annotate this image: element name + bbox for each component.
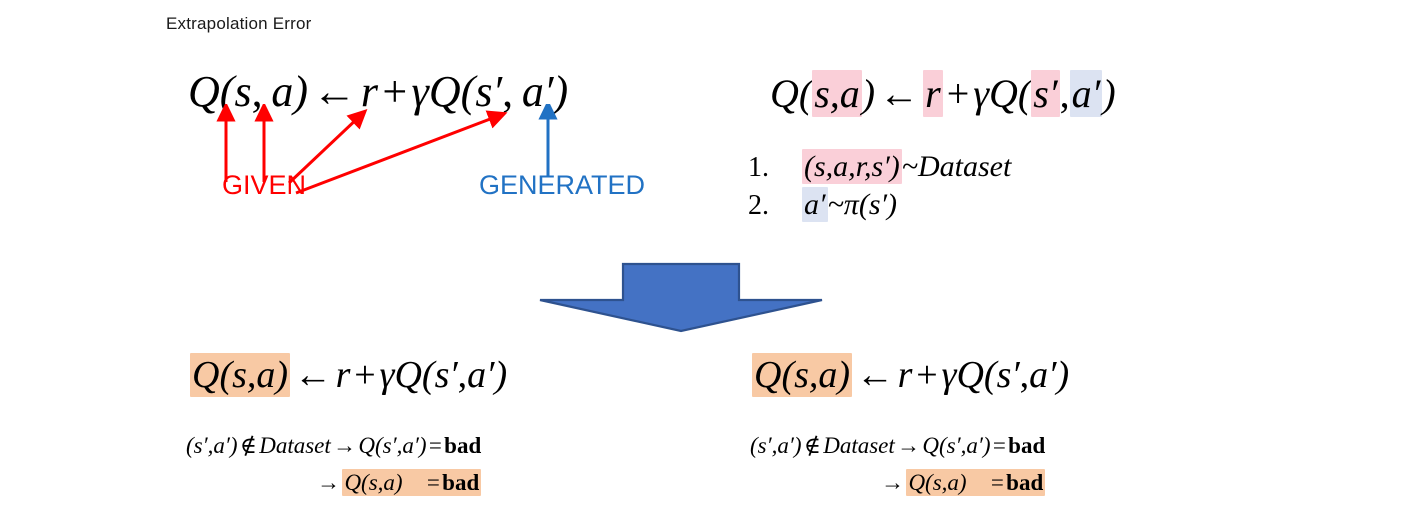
- dataset-word: Dataset: [259, 433, 331, 458]
- implies-arrow: →: [895, 433, 923, 458]
- reward-highlight: r: [923, 70, 943, 117]
- q-open: Q(: [770, 71, 812, 116]
- state-action-highlight: s,a: [812, 70, 862, 117]
- page-title: Extrapolation Error: [166, 14, 312, 34]
- q2-close: ): [1102, 71, 1115, 116]
- reward-symbol: r: [336, 354, 351, 396]
- q-sa-term: Q(s,a): [908, 470, 966, 495]
- policy-action-highlight: a′: [802, 187, 828, 222]
- plus-operator: +: [350, 354, 379, 396]
- arrow-to-next-state: [296, 116, 498, 193]
- equals-sign: =: [425, 470, 443, 495]
- equals-sign: =: [989, 470, 1007, 495]
- q2-open: Q(: [394, 354, 434, 396]
- bad-value: bad: [1006, 470, 1043, 495]
- list-item: 2. a′~π(s′): [748, 190, 1168, 228]
- q-next-term: Q(s′,a′): [922, 433, 990, 458]
- down-block-arrow: [536, 262, 826, 334]
- q-next-term: Q(s′,a′): [358, 433, 426, 458]
- gamma-symbol: γ: [941, 354, 956, 396]
- bottom-left-explanation: (s′,a′)∉Dataset→Q(s′,a′)=bad →Q(s,a)=bad: [186, 434, 481, 494]
- q2-open: Q(: [989, 71, 1031, 116]
- list-item: 1. (s,a,r,s′)~Dataset: [748, 152, 1168, 190]
- q-sa-bad-highlight: Q(s,a)=bad: [342, 469, 481, 496]
- assign-arrow: ←: [290, 354, 336, 396]
- not-in-operator: ∉: [802, 433, 824, 458]
- label-given: GIVEN: [222, 170, 306, 201]
- next-action-symbol: a′: [1029, 354, 1056, 396]
- not-in-operator: ∉: [238, 433, 260, 458]
- q2-close: ): [494, 354, 507, 396]
- label-generated: GENERATED: [479, 170, 645, 201]
- next-action-highlight: a′: [1070, 70, 1103, 117]
- implies-arrow: →: [331, 433, 359, 458]
- gamma-symbol: γ: [379, 354, 394, 396]
- q-sa-term: Q(s,a): [344, 470, 402, 495]
- next-action-symbol: a′: [467, 354, 494, 396]
- implies-arrow: →: [315, 470, 343, 495]
- comma: ,: [1060, 71, 1070, 116]
- q2-close: ): [1056, 354, 1069, 396]
- bad-value: bad: [1008, 433, 1045, 458]
- implies-arrow: →: [879, 470, 907, 495]
- assign-arrow: ←: [875, 71, 923, 116]
- reward-symbol: r: [898, 354, 913, 396]
- list-body: a′~π(s′): [802, 190, 897, 220]
- q-sa-bad-highlight: Q(s,a)=bad: [906, 469, 1045, 496]
- explanation-line-1: (s′,a′)∉Dataset→Q(s′,a′)=bad: [750, 434, 1045, 457]
- equals-sign: =: [427, 433, 445, 458]
- dataset-tail: ~Dataset: [902, 150, 1012, 183]
- policy-tail: ~π(s′): [828, 188, 897, 221]
- next-state-highlight: s′: [1031, 70, 1059, 117]
- next-state-symbol: s′: [997, 354, 1020, 396]
- explanation-line-1: (s′,a′)∉Dataset→Q(s′,a′)=bad: [186, 434, 481, 457]
- gamma-symbol: γ: [973, 71, 989, 116]
- q-close: ): [862, 71, 875, 116]
- explanation-line-2: →Q(s,a)=bad: [186, 471, 481, 494]
- state-action-pair: (s′,a′): [750, 433, 802, 458]
- q-sa-highlight: Q(s,a): [752, 353, 852, 397]
- block-arrow-shape: [540, 264, 822, 331]
- state-action-pair: (s′,a′): [186, 433, 238, 458]
- q2-open: Q(: [956, 354, 996, 396]
- list-marker: 1.: [748, 152, 802, 184]
- list-body: (s,a,r,s′)~Dataset: [802, 152, 1011, 182]
- equals-sign: =: [991, 433, 1009, 458]
- bad-value: bad: [444, 433, 481, 458]
- dataset-tuple-highlight: (s,a,r,s′): [802, 149, 902, 184]
- plus-operator: +: [912, 354, 941, 396]
- bottom-right-explanation: (s′,a′)∉Dataset→Q(s′,a′)=bad →Q(s,a)=bad: [750, 434, 1045, 494]
- next-state-symbol: s′: [435, 354, 458, 396]
- bad-value: bad: [442, 470, 479, 495]
- plus-operator: +: [943, 71, 974, 116]
- q-sa-highlight: Q(s,a): [190, 353, 290, 397]
- explanation-line-2: →Q(s,a)=bad: [750, 471, 1045, 494]
- comma: ,: [458, 354, 468, 396]
- bottom-left-formula: Q(s,a)←r+γQ(s′,a′): [190, 356, 507, 394]
- list-marker: 2.: [748, 190, 802, 222]
- comma: ,: [1020, 354, 1030, 396]
- top-right-formula: Q(s,a)←r+γQ(s′,a′): [770, 74, 1116, 114]
- assign-arrow: ←: [852, 354, 898, 396]
- bottom-right-formula: Q(s,a)←r+γQ(s′,a′): [752, 356, 1069, 394]
- sampling-list: 1. (s,a,r,s′)~Dataset 2. a′~π(s′): [748, 152, 1168, 228]
- dataset-word: Dataset: [823, 433, 895, 458]
